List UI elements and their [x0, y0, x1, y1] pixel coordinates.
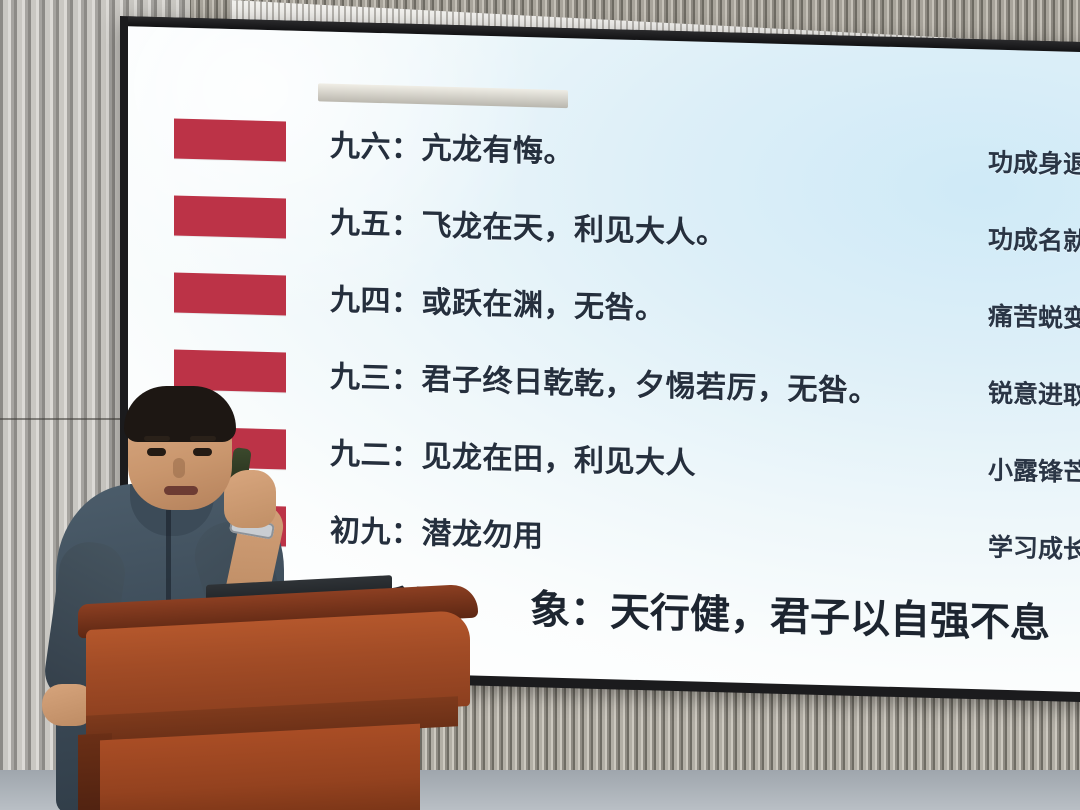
yang-line-bar	[174, 118, 286, 161]
presenter-eye-right	[193, 448, 212, 456]
line-statement: 九二：见龙在田，利见大人	[330, 428, 696, 482]
line-keyword: 小露锋芒	[988, 450, 1080, 489]
podium	[78, 586, 478, 810]
line-statement: 九五：飞龙在天，利见大人。	[330, 197, 727, 252]
presenter-right-hand	[224, 470, 276, 528]
line-keyword: 学习成长	[988, 527, 1080, 566]
line-statement: 初九：潜龙勿用	[330, 505, 544, 555]
presenter-eyebrow-right	[190, 436, 216, 441]
xiang-ci-text: 象：天行健，君子以自强不息	[530, 577, 1050, 649]
yang-line-bar	[174, 195, 286, 238]
presenter-hair	[124, 386, 236, 442]
hexagram-line-list: 九六：亢龙有悔。 功成身退 九五：飞龙在天，利见大人。 功成名就 九四：或跃在渊…	[174, 99, 1080, 586]
line-keyword: 痛苦蜕变	[988, 296, 1080, 335]
line-keyword: 功成名就	[988, 219, 1080, 258]
presenter-nose	[173, 458, 185, 478]
line-statement: 九四：或跃在渊，无咎。	[330, 274, 666, 327]
presenter-eye-left	[147, 448, 166, 456]
line-keyword: 功成身退	[988, 142, 1080, 181]
yang-line-bar	[174, 272, 286, 315]
line-statement: 九三：君子终日乾乾，夕惕若厉，无咎。	[330, 351, 879, 410]
screenshot-root: 九六：亢龙有悔。 功成身退 九五：飞龙在天，利见大人。 功成名就 九四：或跃在渊…	[0, 0, 1080, 810]
line-keyword: 锐意进取	[988, 373, 1080, 412]
presenter-eyebrow-left	[144, 436, 170, 441]
line-statement: 九六：亢龙有悔。	[330, 120, 574, 171]
presenter-mouth	[164, 486, 198, 495]
